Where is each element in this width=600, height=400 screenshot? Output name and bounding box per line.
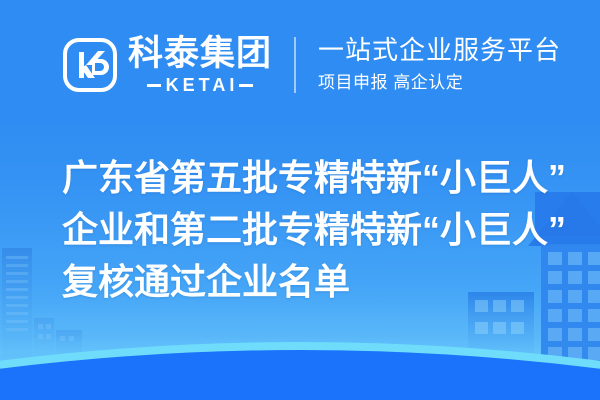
title-line-1: 广东省第五批专精特新“小巨人” <box>62 152 566 204</box>
ketai-kp-monogram-logo-icon <box>62 37 118 93</box>
page-title: 广东省第五批专精特新“小巨人” 企业和第二批专精特新“小巨人” 复核通过企业名单 <box>62 152 566 308</box>
wordmark-dash-left <box>147 84 161 87</box>
company-name-en: KETAI <box>166 76 239 94</box>
banner-header: 科泰集团 KETAI 一站式企业服务平台 项目申报 高企认定 <box>0 0 600 130</box>
bottom-arc-wave <box>0 342 600 400</box>
wordmark: 科泰集团 KETAI <box>128 36 272 95</box>
header-divider <box>294 37 296 93</box>
wordmark-dash-right <box>239 84 253 87</box>
left-small-buildings <box>34 318 82 362</box>
tagline-block: 一站式企业服务平台 项目申报 高企认定 <box>318 36 561 95</box>
company-name-cn: 科泰集团 <box>128 36 272 73</box>
tagline-sub: 项目申报 高企认定 <box>318 72 561 94</box>
left-tall-tower <box>2 248 32 358</box>
title-line-3: 复核通过企业名单 <box>62 256 566 308</box>
title-line-2: 企业和第二批专精特新“小巨人” <box>62 204 566 256</box>
brand-lockup: 科泰集团 KETAI <box>62 36 272 95</box>
banner-root: 科泰集团 KETAI 一站式企业服务平台 项目申报 高企认定 广东省第五批专精特… <box>0 0 600 400</box>
tagline-main: 一站式企业服务平台 <box>318 36 561 66</box>
company-name-en-row: KETAI <box>147 76 254 94</box>
